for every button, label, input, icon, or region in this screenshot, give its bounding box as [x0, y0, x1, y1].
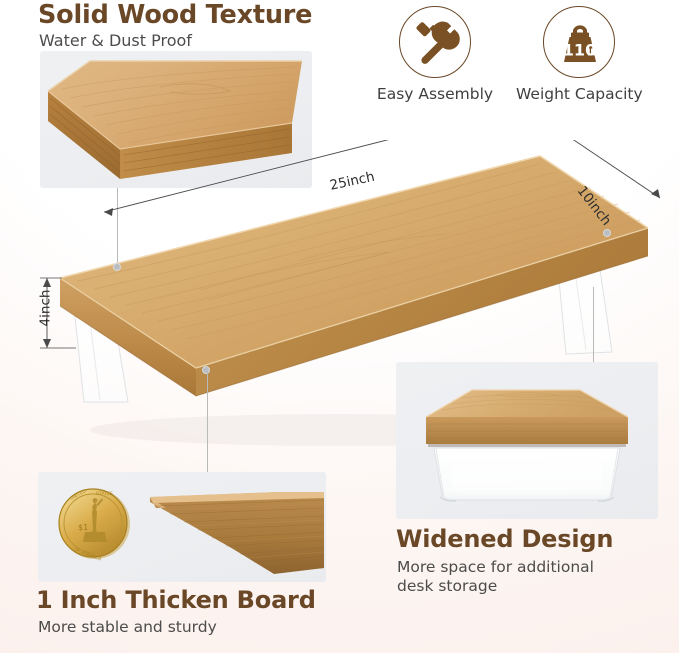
weight-capacity-circle: 110 lb — [543, 6, 615, 78]
weight-block-icon: 110 lb — [544, 7, 616, 79]
solid-wood-title: Solid Wood Texture — [38, 0, 312, 30]
thicken-board-title: 1 Inch Thicken Board — [36, 586, 316, 615]
board-pin-front — [203, 367, 210, 374]
wrench-screwdriver-icon — [400, 7, 472, 79]
solid-wood-subtitle: Water & Dust Proof — [39, 31, 192, 51]
svg-text:STATES: STATES — [96, 491, 113, 497]
badge-weight-capacity: 110 lb Weight Capacity — [516, 6, 642, 103]
one-dollar-coin: $1 UNITED STATES OF AMERICA — [59, 488, 130, 563]
easy-assembly-circle — [399, 6, 471, 78]
riser-front-view-illustration — [396, 362, 658, 519]
leader-line-thicken-board — [207, 372, 208, 472]
weight-unit-text: lb — [588, 49, 597, 59]
dimension-label-height: 4inch — [37, 290, 53, 327]
widened-design-subtitle: More space for additional desk storage — [397, 558, 627, 596]
weight-capacity-label: Weight Capacity — [516, 85, 642, 103]
badge-easy-assembly: Easy Assembly — [372, 6, 498, 103]
thicken-board-photo-panel: $1 UNITED STATES OF AMERICA — [38, 472, 326, 582]
board-edge-with-coin-illustration: $1 UNITED STATES OF AMERICA — [38, 472, 326, 582]
easy-assembly-label: Easy Assembly — [372, 85, 498, 103]
widened-design-title: Widened Design — [396, 525, 613, 554]
infographic-canvas: Solid Wood Texture Water & Dust Proof — [0, 0, 679, 653]
coin-denomination: $1 — [78, 523, 88, 532]
board-pin-right — [604, 230, 611, 237]
leader-line-widened-design — [593, 287, 594, 362]
widened-design-photo-panel — [396, 362, 658, 519]
board-pin-left — [114, 264, 121, 271]
widened-front-face — [426, 417, 628, 444]
thicken-board-subtitle: More stable and sturdy — [38, 617, 217, 637]
